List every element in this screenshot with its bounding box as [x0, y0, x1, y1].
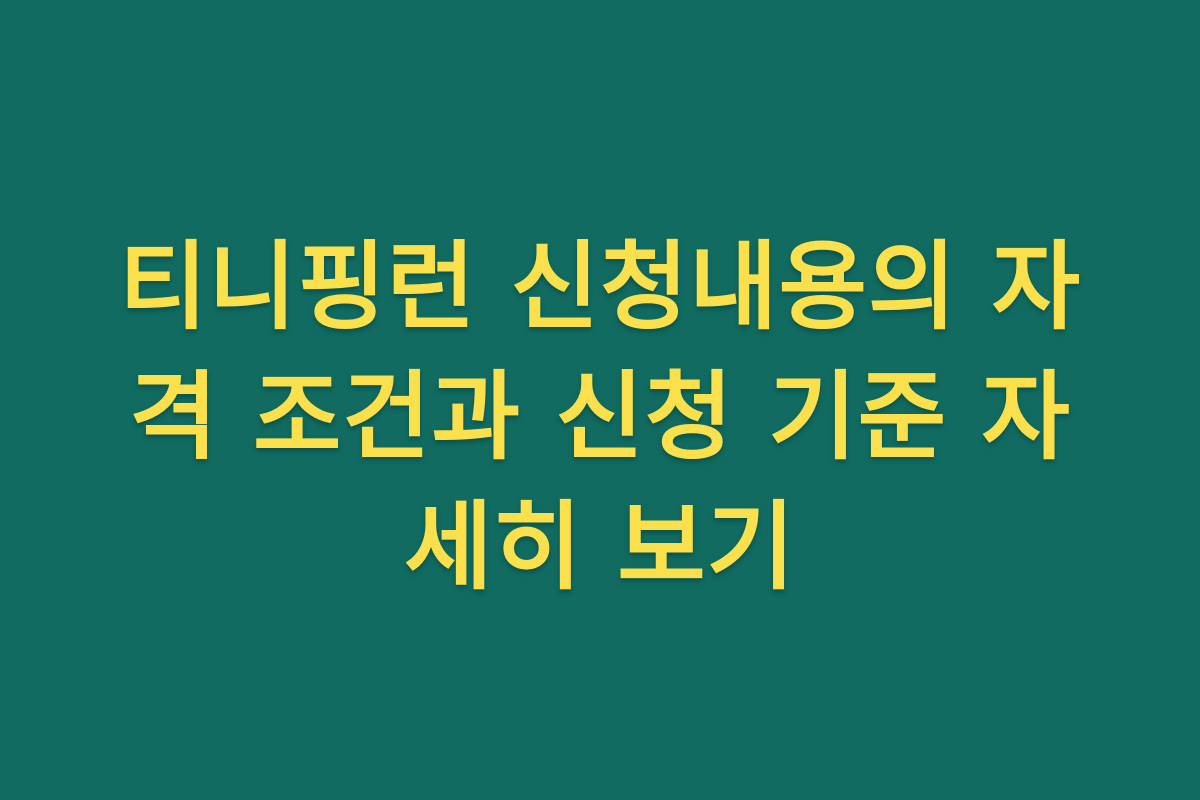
- title-line-1: 티니핑런 신청내용의 자: [100, 222, 1100, 352]
- title-line-3: 세히 보기: [100, 482, 1100, 612]
- title-line-2: 격 조건과 신청 기준 자: [100, 352, 1100, 482]
- title-text-block: 티니핑런 신청내용의 자 격 조건과 신청 기준 자 세히 보기: [100, 222, 1100, 612]
- thumbnail-card: 티니핑런 신청내용의 자 격 조건과 신청 기준 자 세히 보기: [0, 0, 1200, 800]
